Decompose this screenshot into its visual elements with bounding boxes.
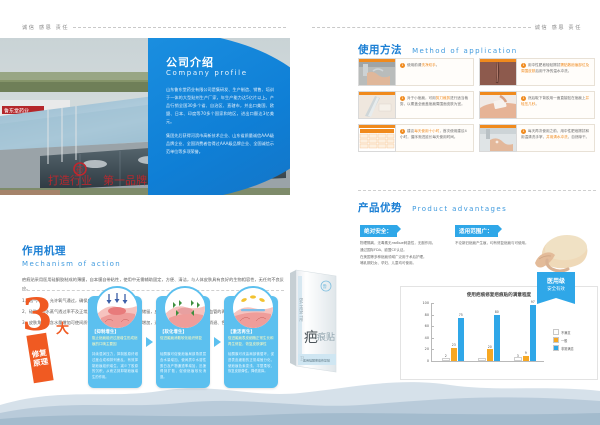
y-tick-40: 40 — [425, 336, 432, 340]
usage-section: 使用方法 Method of application — [358, 38, 594, 57]
y-tick-60: 60 — [425, 324, 432, 328]
slogan-text-right: 诚信 感恩 责任 — [535, 24, 582, 31]
usage-card-4-pre: 然后取下背胶用一面直接贴在疤痕上 — [528, 96, 586, 100]
y-tick-20: 20 — [425, 347, 432, 351]
medical-grade-badge: 医用级 安全有效 — [537, 272, 575, 304]
bar-g1-verysatisfied: 75 — [458, 318, 464, 362]
principle-card-3-sub: 促进瘢痕表皮细胞正常生长和再生修复，恢复皮肤弹性 — [228, 336, 274, 347]
arrow-icon-1 — [142, 296, 156, 388]
company-body: 山东鲁东堂药业有限公司是集研发、生产制造、销售、培训于一体的大型贴剂生产厂家，年… — [166, 86, 274, 162]
badge-top-text: 医用级 — [537, 276, 575, 285]
company-profile-panel: 公司介绍 Company profile 山东鲁东堂药业有限公司是集研发、生产制… — [148, 38, 290, 195]
chart-legend: 不满意 一般 非常满意 — [553, 329, 574, 353]
principle-cards: 【抑制增生】 阻止疤痕组织过度增生形成疤痕的口唤主要因 持续湿润压力，抑制胶原纤… — [88, 296, 284, 388]
usage-card-4: 1然后取下背胶用一面直接贴在疤痕上并轻压几秒。 — [479, 91, 595, 119]
bar-label-g3-s1: 9 — [525, 351, 527, 355]
svg-text:BA HEN TIE: BA HEN TIE — [299, 298, 304, 322]
svg-text:疤: 疤 — [304, 330, 318, 346]
bar-group-2: 20 80 — [478, 315, 500, 361]
arrow-icon-2 — [210, 296, 224, 388]
big-unit: 大 — [56, 318, 69, 337]
hand-holding-patch-icon — [513, 215, 593, 275]
bar-g1-average: 23 — [451, 348, 457, 361]
advantage-1-line-3: 在美国等多种疤痕领域广泛用于术后护理。 — [360, 254, 458, 261]
svg-text:鲁: 鲁 — [323, 283, 328, 290]
legend-label-1: 一般 — [561, 338, 567, 343]
badge-bottom-text: 安全有效 — [537, 286, 575, 292]
usage-card-2-pre: 用中性肥皂轻轻擦拭 — [528, 63, 560, 67]
bar-group-1: 2 23 75 — [442, 318, 464, 362]
usage-card-2-post: 后用干净的温水冲洗。 — [535, 69, 571, 73]
y-tick-80: 80 — [425, 313, 432, 317]
schedule-table-icon — [358, 124, 396, 152]
bar-g2-unsatisfied — [478, 358, 486, 361]
advantage-1-body: 物理隔离，无毒素无любые刺激性，无副作用。 通过国际FDA、欧盟CE认证。 … — [360, 240, 458, 267]
usage-card-3: 1对于小疤痕，可用剪刀裁剪进行适当裁剪，以覆盖全面盖疤痕周围面皮肤为宜。 — [358, 91, 474, 119]
usage-card-6: 1每天再次使用之前，用中性肥皂擦拭和用温清洗手掌，并用清水冲洗，自然晾干。 — [479, 124, 595, 152]
usage-card-6-number: 1 — [521, 129, 526, 134]
apply-to-arm-icon — [479, 91, 517, 119]
usage-card-3-text: 1对于小疤痕，可用剪刀裁剪进行适当裁剪，以覆盖全面盖疤痕周围面皮肤为宜。 — [396, 91, 474, 119]
scissors-cutting-icon — [358, 91, 396, 119]
usage-card-1-number: 1 — [400, 63, 405, 68]
usage-card-3-pre: 对于小疤痕，可用 — [407, 96, 436, 100]
advantage-block-1: 绝对安全： 物理隔离，无毒素无любые刺激性，无副作用。 通过国际FDA、欧盟… — [360, 218, 458, 267]
usage-card-5-highlight: 每天使用十小时 — [414, 129, 439, 133]
ribbon-line-2: 原理 — [33, 357, 49, 367]
bar-g3-unsatisfied: 3 — [514, 357, 522, 361]
skin-regenerate-icon — [231, 286, 275, 330]
slogan-text-left: 诚信 感恩 责任 — [22, 24, 69, 31]
skin-inhibit-icon — [95, 286, 139, 330]
header-slogan-left: 诚信 感恩 责任 — [22, 20, 286, 34]
legend-item-0: 不满意 — [553, 329, 574, 335]
usage-card-3-number: 1 — [400, 96, 405, 101]
principle-card-2: 【软化增生】 促进瘢痕消散软化组织修复 硅酮膜可促使疤痕局部角质层含水量增加，使… — [156, 296, 210, 388]
usage-card-6-highlight: 并用清水冲洗 — [546, 135, 568, 139]
usage-card-4-text: 1然后取下背胶用一面直接贴在疤痕上并轻压几秒。 — [517, 91, 595, 119]
svg-text:医用硅酮疤痕修复贴: 医用硅酮疤痕修复贴 — [303, 358, 330, 363]
y-tick-0: 0 — [427, 359, 432, 363]
brochure-page: 诚信 感恩 责任 诚信 感恩 责任 — [0, 0, 600, 425]
bar-g2-verysatisfied: 80 — [494, 315, 500, 361]
usage-card-1-pre: 使用前请 — [407, 63, 421, 67]
product-box: BA HEN TIE 鲁 疤 痕贴 医用硅酮疤痕修复贴 B — [290, 262, 342, 374]
principle-card-3-body: 硅酮膜可改善局部微循环，促进表皮细胞的正常增殖分化，使疤痕色素变浅、平整柔软，恢… — [228, 352, 274, 375]
scar-closeup-icon — [479, 58, 517, 86]
skin-soften-icon — [163, 286, 207, 330]
principle-card-2-body: 硅酮膜可促使疤痕局部角质层含水量增加，使间质中水溶性蛋白及产物通透率增加，迅速得… — [160, 352, 206, 381]
advantage-1-tag: 绝对安全： — [360, 225, 397, 237]
company-subtitle: Company profile — [166, 69, 248, 77]
principle-card-3-title: 【激活再生】 — [228, 329, 274, 335]
bar-label-g2-s2: 80 — [495, 310, 499, 314]
usage-card-5-text: 1建议每天使用十小时，首次使用建议4小时，循序渐进延长每天使用时间。 — [396, 124, 474, 152]
advantage-1-line-1: 物理隔离，无毒素无любые刺激性，无副作用。 — [360, 240, 458, 247]
usage-card-1-post: 。 — [436, 63, 440, 67]
advantages-subtitle: Product advantages — [412, 205, 507, 213]
advantage-2-tag: 适用范围广： — [455, 225, 498, 237]
bar-label-g2-s1: 20 — [488, 345, 492, 349]
principle-card-1-sub: 阻止疤痕组织过度增生形成疤痕的口唤主要因 — [92, 336, 138, 347]
usage-title: 使用方法 — [358, 42, 402, 57]
left-column: 鲁东堂药业 — [0, 38, 290, 195]
usage-card-2: 1用中性肥皂轻轻擦拭需贴敷疤痕部位及周围皮肤后用干净的温水冲洗。 — [479, 58, 595, 86]
bar-g2-average: 20 — [487, 349, 493, 361]
usage-card-3-highlight: 剪刀裁剪 — [436, 96, 450, 100]
legend-label-2: 非常满意 — [561, 346, 574, 351]
bar-label-g1-s2: 75 — [459, 313, 463, 317]
hand-wash-2-icon — [479, 124, 517, 152]
y-tick-100: 100 — [423, 301, 432, 305]
legend-item-1: 一般 — [553, 337, 574, 343]
principle-card-2-sub: 促进瘢痕消散软化组织修复 — [160, 336, 206, 342]
company-title: 公司介绍 — [166, 54, 214, 70]
bar-label-g1-s1: 23 — [452, 343, 456, 347]
bar-g1-unsatisfied: 2 — [442, 358, 450, 361]
usage-card-1-text: 1使用前请洗净双手。 — [396, 58, 474, 86]
company-paragraph-2: 集团先后获得河滨市高新技术企业、山东省质量诚信AAA级品牌企业、全国消费者信得过… — [166, 132, 274, 156]
advantages-section: 产品优势 Product advantages — [358, 196, 596, 215]
usage-card-6-text: 1每天再次使用之前，用中性肥皂擦拭和用温清洗手掌，并用清水冲洗，自然晾干。 — [517, 124, 595, 152]
principle-card-1: 【抑制增生】 阻止疤痕组织过度增生形成疤痕的口唤主要因 持续湿润压力，抑制胶原纤… — [88, 296, 142, 388]
usage-card-5: 1建议每天使用十小时，首次使用建议4小时，循序渐进延长每天使用时间。 — [358, 124, 474, 152]
bar-g3-average: 9 — [523, 356, 529, 361]
legend-label-0: 不满意 — [561, 330, 571, 335]
bar-g3-verysatisfied: 97 — [530, 305, 536, 361]
bar-group-3: 3 9 97 — [514, 305, 536, 361]
usage-card-1-highlight: 洗净双手 — [421, 63, 435, 67]
bar-label-g3-s2: 97 — [531, 300, 535, 304]
big-number: 3 — [22, 296, 53, 336]
usage-card-4-post: 。 — [535, 102, 539, 106]
header-divider-left — [73, 27, 286, 28]
usage-card-5-number: 1 — [400, 129, 405, 134]
bar-label-g1-s0: 2 — [445, 354, 447, 358]
advantage-1-line-4: 哺乳期妇女、孕妇、儿童均可使用。 — [360, 260, 458, 267]
header-divider-right — [312, 27, 531, 28]
usage-card-1: 1使用前请洗净双手。 — [358, 58, 474, 86]
usage-subtitle: Method of application — [412, 47, 517, 55]
svg-text:药: 药 — [76, 165, 83, 174]
company-hero: 鲁东堂药业 — [0, 38, 290, 195]
principle-card-1-body: 持续湿润压力，抑制胶原纤维过度合成和排列紊乱，有效抑制疤痕组织增生，减少了胶原的… — [92, 352, 138, 381]
svg-text:B: B — [300, 356, 305, 363]
washing-hands-icon — [358, 58, 396, 86]
principle-card-2-title: 【软化增生】 — [160, 329, 206, 335]
svg-text:打造行业 第一品牌: 打造行业 第一品牌 — [48, 173, 147, 187]
advantages-title: 产品优势 — [358, 200, 402, 215]
mechanism-subtitle: Mechanism of action — [22, 260, 284, 268]
usage-cards-grid: 1使用前请洗净双手。 1对于小疤痕， — [358, 58, 596, 157]
mechanism-title: 作用机理 — [22, 243, 284, 258]
usage-divider — [358, 190, 596, 191]
bar-label-g3-s0: 3 — [517, 354, 519, 358]
chart-plot-area: 100 80 60 40 20 0 2 23 75 20 80 3 9 97 — [431, 303, 544, 362]
advantage-1-line-2: 通过国际FDA、欧盟CE认证。 — [360, 247, 458, 254]
usage-card-2-text: 1用中性肥皂轻轻擦拭需贴敷疤痕部位及周围皮肤后用干净的温水冲洗。 — [517, 58, 595, 86]
header-slogan-right: 诚信 感恩 责任 — [312, 20, 582, 34]
company-paragraph-1: 山东鲁东堂药业有限公司是集研发、生产制造、销售、培训于一体的大型贴剂生产厂家，年… — [166, 86, 274, 126]
legend-item-2: 非常满意 — [553, 345, 574, 351]
principle-card-3: 【激活再生】 促进瘢痕表皮细胞正常生长和再生修复，恢复皮肤弹性 硅酮膜可改善局部… — [224, 296, 278, 388]
three-principles-mark: 3 大 修复 原理 — [22, 296, 84, 384]
svg-text:痕贴: 痕贴 — [317, 331, 335, 343]
usage-card-4-number: 1 — [521, 96, 526, 101]
principle-card-1-title: 【抑制增生】 — [92, 329, 138, 335]
usage-card-2-number: 1 — [521, 63, 526, 68]
usage-card-6-post: ，自然晾干。 — [568, 135, 590, 139]
